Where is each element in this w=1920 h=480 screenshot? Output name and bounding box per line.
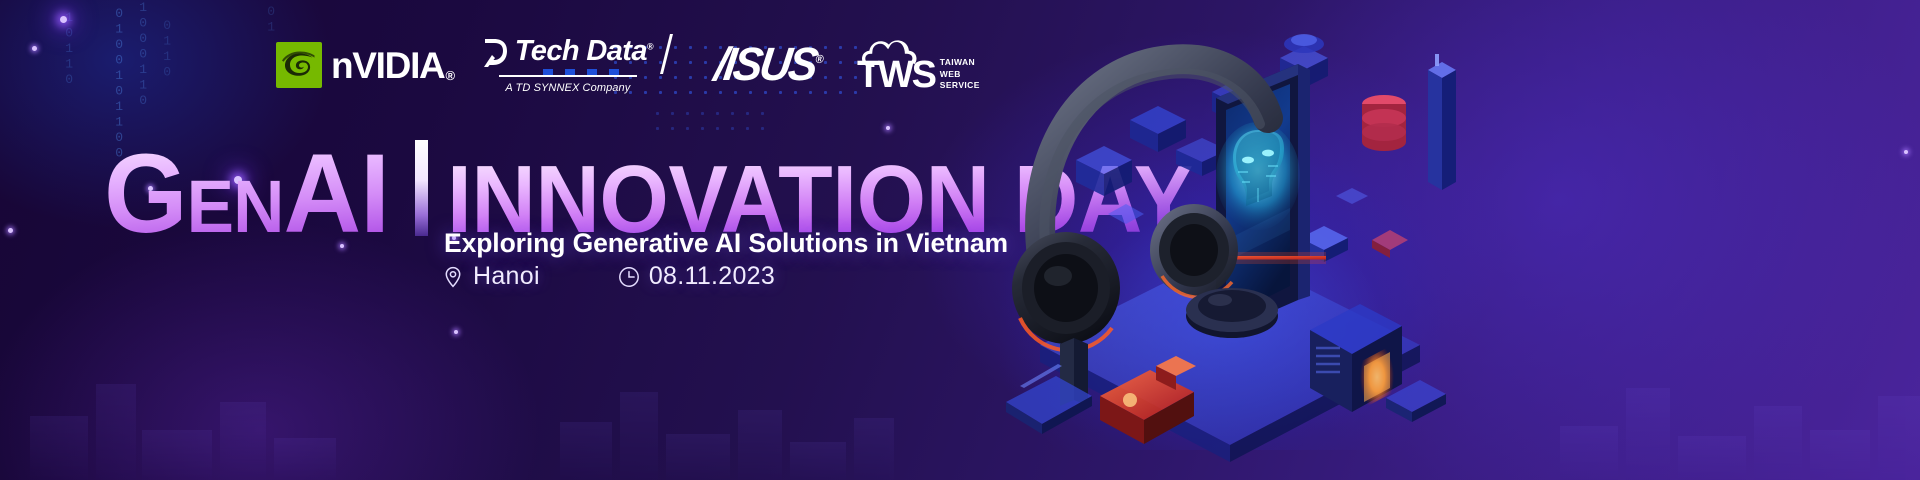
glow-particle [1904,150,1908,154]
event-subtitle: Exploring Generative AI Solutions in Vie… [444,228,1008,259]
glow-particle [60,16,67,23]
event-date-label: 08.11.2023 [649,262,775,291]
logo-tech-data: Tech Data® A TD SYNNEX Company [477,36,659,94]
city-skyline-decoration [0,330,1920,480]
binary-code-decoration: 1000110 [136,0,150,109]
logo-asus: /ISUS® [715,36,823,94]
cloud-icon [861,34,947,73]
clock-icon [618,266,640,288]
asus-wordmark: /ISUS® [712,42,827,89]
tech-data-tagline: A TD SYNNEX Company [505,82,630,94]
glow-particle [886,126,890,130]
event-location-label: Hanoi [473,262,540,291]
partner-logo-row: nVIDIA® Tech Data® A T [276,36,980,94]
dot-grid-decoration [650,106,770,136]
event-location: Hanoi [442,262,540,291]
tech-data-slash-decoration [660,34,673,74]
headline-divider [415,140,428,236]
glow-particle [8,228,13,233]
glow-particle [454,330,458,334]
tech-data-accent-bar [499,68,637,77]
binary-code-decoration: 01 [264,4,278,35]
logo-tws: TWS TAIWAN WEB SERVICE [857,36,980,94]
tech-data-wordmark: Tech Data® [515,37,653,66]
map-pin-icon [442,266,464,288]
event-date: 08.11.2023 [618,262,775,291]
event-banner: 01001011001 1000110 0110 10110 01 nVIDIA… [0,0,1920,480]
binary-code-decoration: 0110 [160,18,174,80]
ai-tech-isometric-illustration [980,0,1480,480]
nvidia-eye-icon [276,42,322,88]
logo-nvidia: nVIDIA® [276,36,453,94]
brand-genai-title: GENAI [104,146,389,242]
event-meta-row: Hanoi 08.11.2023 [442,262,775,291]
tech-data-monogram-icon [483,36,509,66]
nvidia-wordmark: nVIDIA® [331,47,453,84]
glow-particle [32,46,37,51]
